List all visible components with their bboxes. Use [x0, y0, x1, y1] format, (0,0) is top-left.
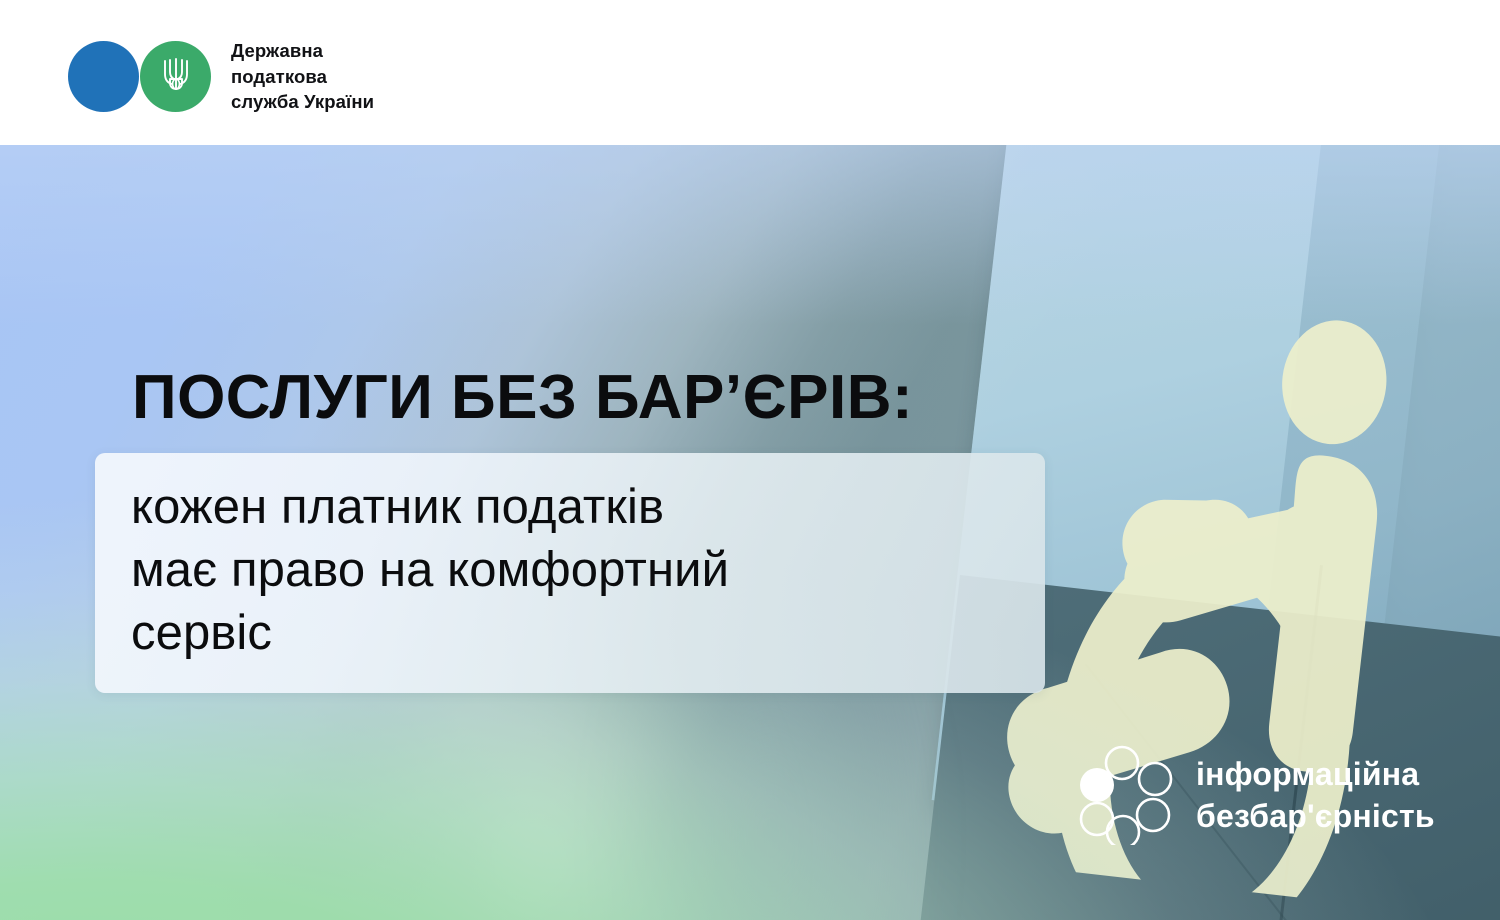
- green-circle-icon: [140, 41, 211, 112]
- header-bar: Державна податкова служба України: [0, 0, 1500, 145]
- barrier-free-line-2: безбар'єрність: [1196, 795, 1435, 837]
- organization-name: Державна податкова служба України: [231, 38, 374, 115]
- barrier-free-line-1: інформаційна: [1196, 753, 1435, 795]
- barrier-free-logo: інформаційна безбар'єрність: [1075, 745, 1435, 845]
- subtitle-text: кожен платник податків має право на комф…: [131, 476, 729, 666]
- org-name-line-2: податкова: [231, 64, 374, 90]
- subtitle-card: кожен платник податків має право на комф…: [95, 453, 1045, 693]
- ukraine-trident-icon: [161, 55, 191, 97]
- poster-canvas: ПОСЛУГИ БЕЗ БАР’ЄРІВ: кожен платник пода…: [0, 0, 1500, 920]
- org-name-line-1: Державна: [231, 38, 374, 64]
- organization-logo[interactable]: Державна податкова служба України: [68, 38, 374, 115]
- page-title: ПОСЛУГИ БЕЗ БАР’ЄРІВ:: [132, 367, 913, 429]
- gradient-wash-top: [0, 145, 1500, 325]
- barrier-free-logo-text: інформаційна безбар'єрність: [1196, 753, 1435, 837]
- org-name-line-3: служба України: [231, 89, 374, 115]
- blue-circle-icon: [68, 41, 139, 112]
- background-photo: ПОСЛУГИ БЕЗ БАР’ЄРІВ: кожен платник пода…: [0, 145, 1500, 920]
- logo-marks: [68, 41, 213, 112]
- braille-dots-icon: [1075, 745, 1180, 845]
